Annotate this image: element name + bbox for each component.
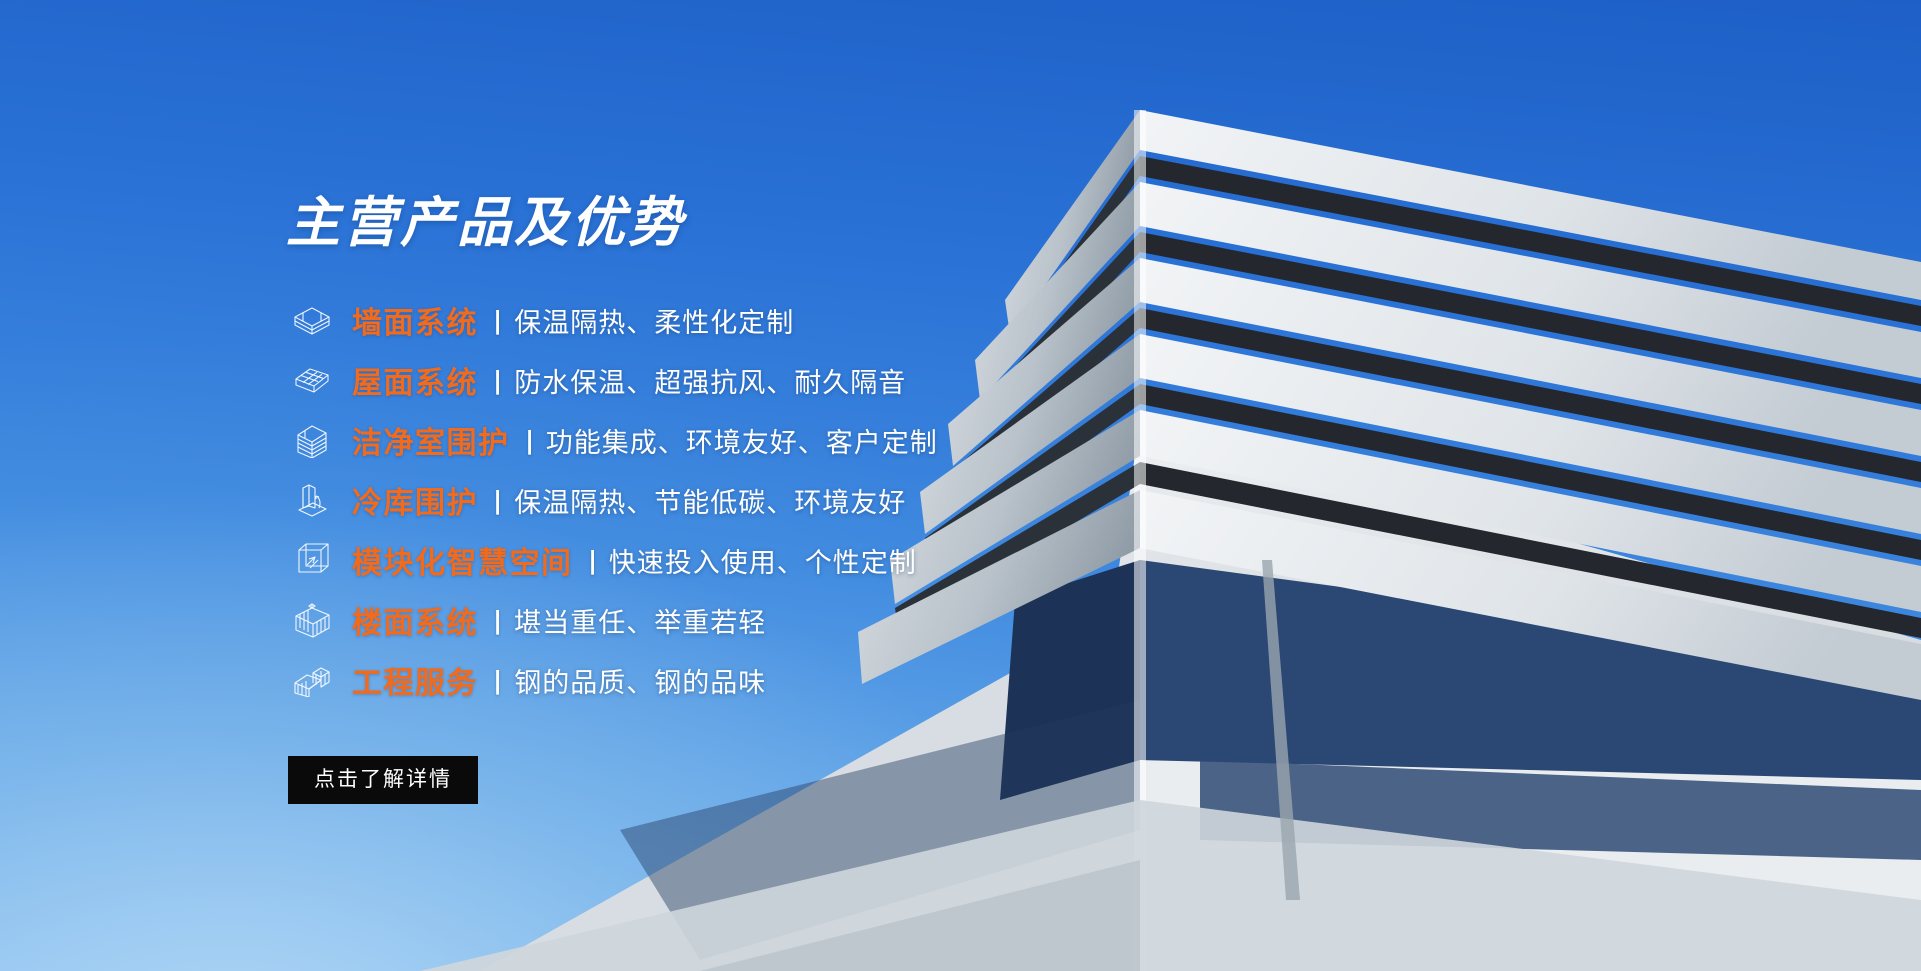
feature-item-floor-system[interactable]: 楼面系统 | 堪当重任、举重若轻: [286, 590, 1206, 650]
feature-separator: |: [495, 665, 501, 696]
feature-description: 钢的品质、钢的品味: [514, 661, 766, 700]
feature-description: 功能集成、环境友好、客户定制: [546, 421, 938, 460]
feature-description: 保温隔热、节能低碳、环境友好: [514, 481, 906, 520]
feature-item-engineering-service[interactable]: 工程服务 | 钢的品质、钢的品味: [286, 650, 1206, 710]
feature-separator: |: [495, 605, 501, 636]
feature-name: 屋面系统: [352, 358, 478, 402]
roof-panel-icon: [286, 358, 338, 402]
hero-content: 主营产品及优势 墙面系统 | 保温隔热、柔性化定制: [286, 196, 1206, 804]
feature-separator: |: [495, 305, 501, 336]
feature-list: 墙面系统 | 保温隔热、柔性化定制 屋面系统 | 防水保温、超强抗风、耐久隔音: [286, 290, 1206, 710]
feature-separator: |: [526, 425, 532, 456]
feature-item-cleanroom-enclosure[interactable]: 洁净室围护 | 功能集成、环境友好、客户定制: [286, 410, 1206, 470]
feature-separator: |: [589, 545, 595, 576]
page-title: 主营产品及优势: [286, 196, 1206, 250]
feature-item-cold-storage-enclosure[interactable]: 冷库围护 | 保温隔热、节能低碳、环境友好: [286, 470, 1206, 530]
feature-item-wall-system[interactable]: 墙面系统 | 保温隔热、柔性化定制: [286, 290, 1206, 350]
feature-separator: |: [495, 365, 501, 396]
cleanroom-building-icon: [286, 418, 338, 462]
feature-name: 楼面系统: [352, 598, 478, 642]
feature-name: 模块化智慧空间: [352, 538, 573, 582]
feature-description: 堪当重任、举重若轻: [514, 601, 766, 640]
feature-item-roof-system[interactable]: 屋面系统 | 防水保温、超强抗风、耐久隔音: [286, 350, 1206, 410]
feature-separator: |: [495, 485, 501, 516]
wall-panel-icon: [286, 298, 338, 342]
engineering-service-icon: [286, 658, 338, 702]
learn-more-button[interactable]: 点击了解详情: [288, 756, 478, 804]
modular-cube-icon: [286, 538, 338, 582]
feature-name: 冷库围护: [352, 478, 478, 522]
hero-banner: 主营产品及优势 墙面系统 | 保温隔热、柔性化定制: [0, 0, 1921, 971]
feature-name: 洁净室围护: [352, 418, 510, 462]
feature-description: 保温隔热、柔性化定制: [514, 301, 794, 340]
floor-deck-icon: [286, 598, 338, 642]
feature-name: 工程服务: [352, 658, 478, 702]
feature-description: 防水保温、超强抗风、耐久隔音: [514, 361, 906, 400]
feature-description: 快速投入使用、个性定制: [609, 541, 917, 580]
cold-storage-icon: [286, 478, 338, 522]
feature-name: 墙面系统: [352, 298, 478, 342]
feature-item-modular-smart-space[interactable]: 模块化智慧空间 | 快速投入使用、个性定制: [286, 530, 1206, 590]
